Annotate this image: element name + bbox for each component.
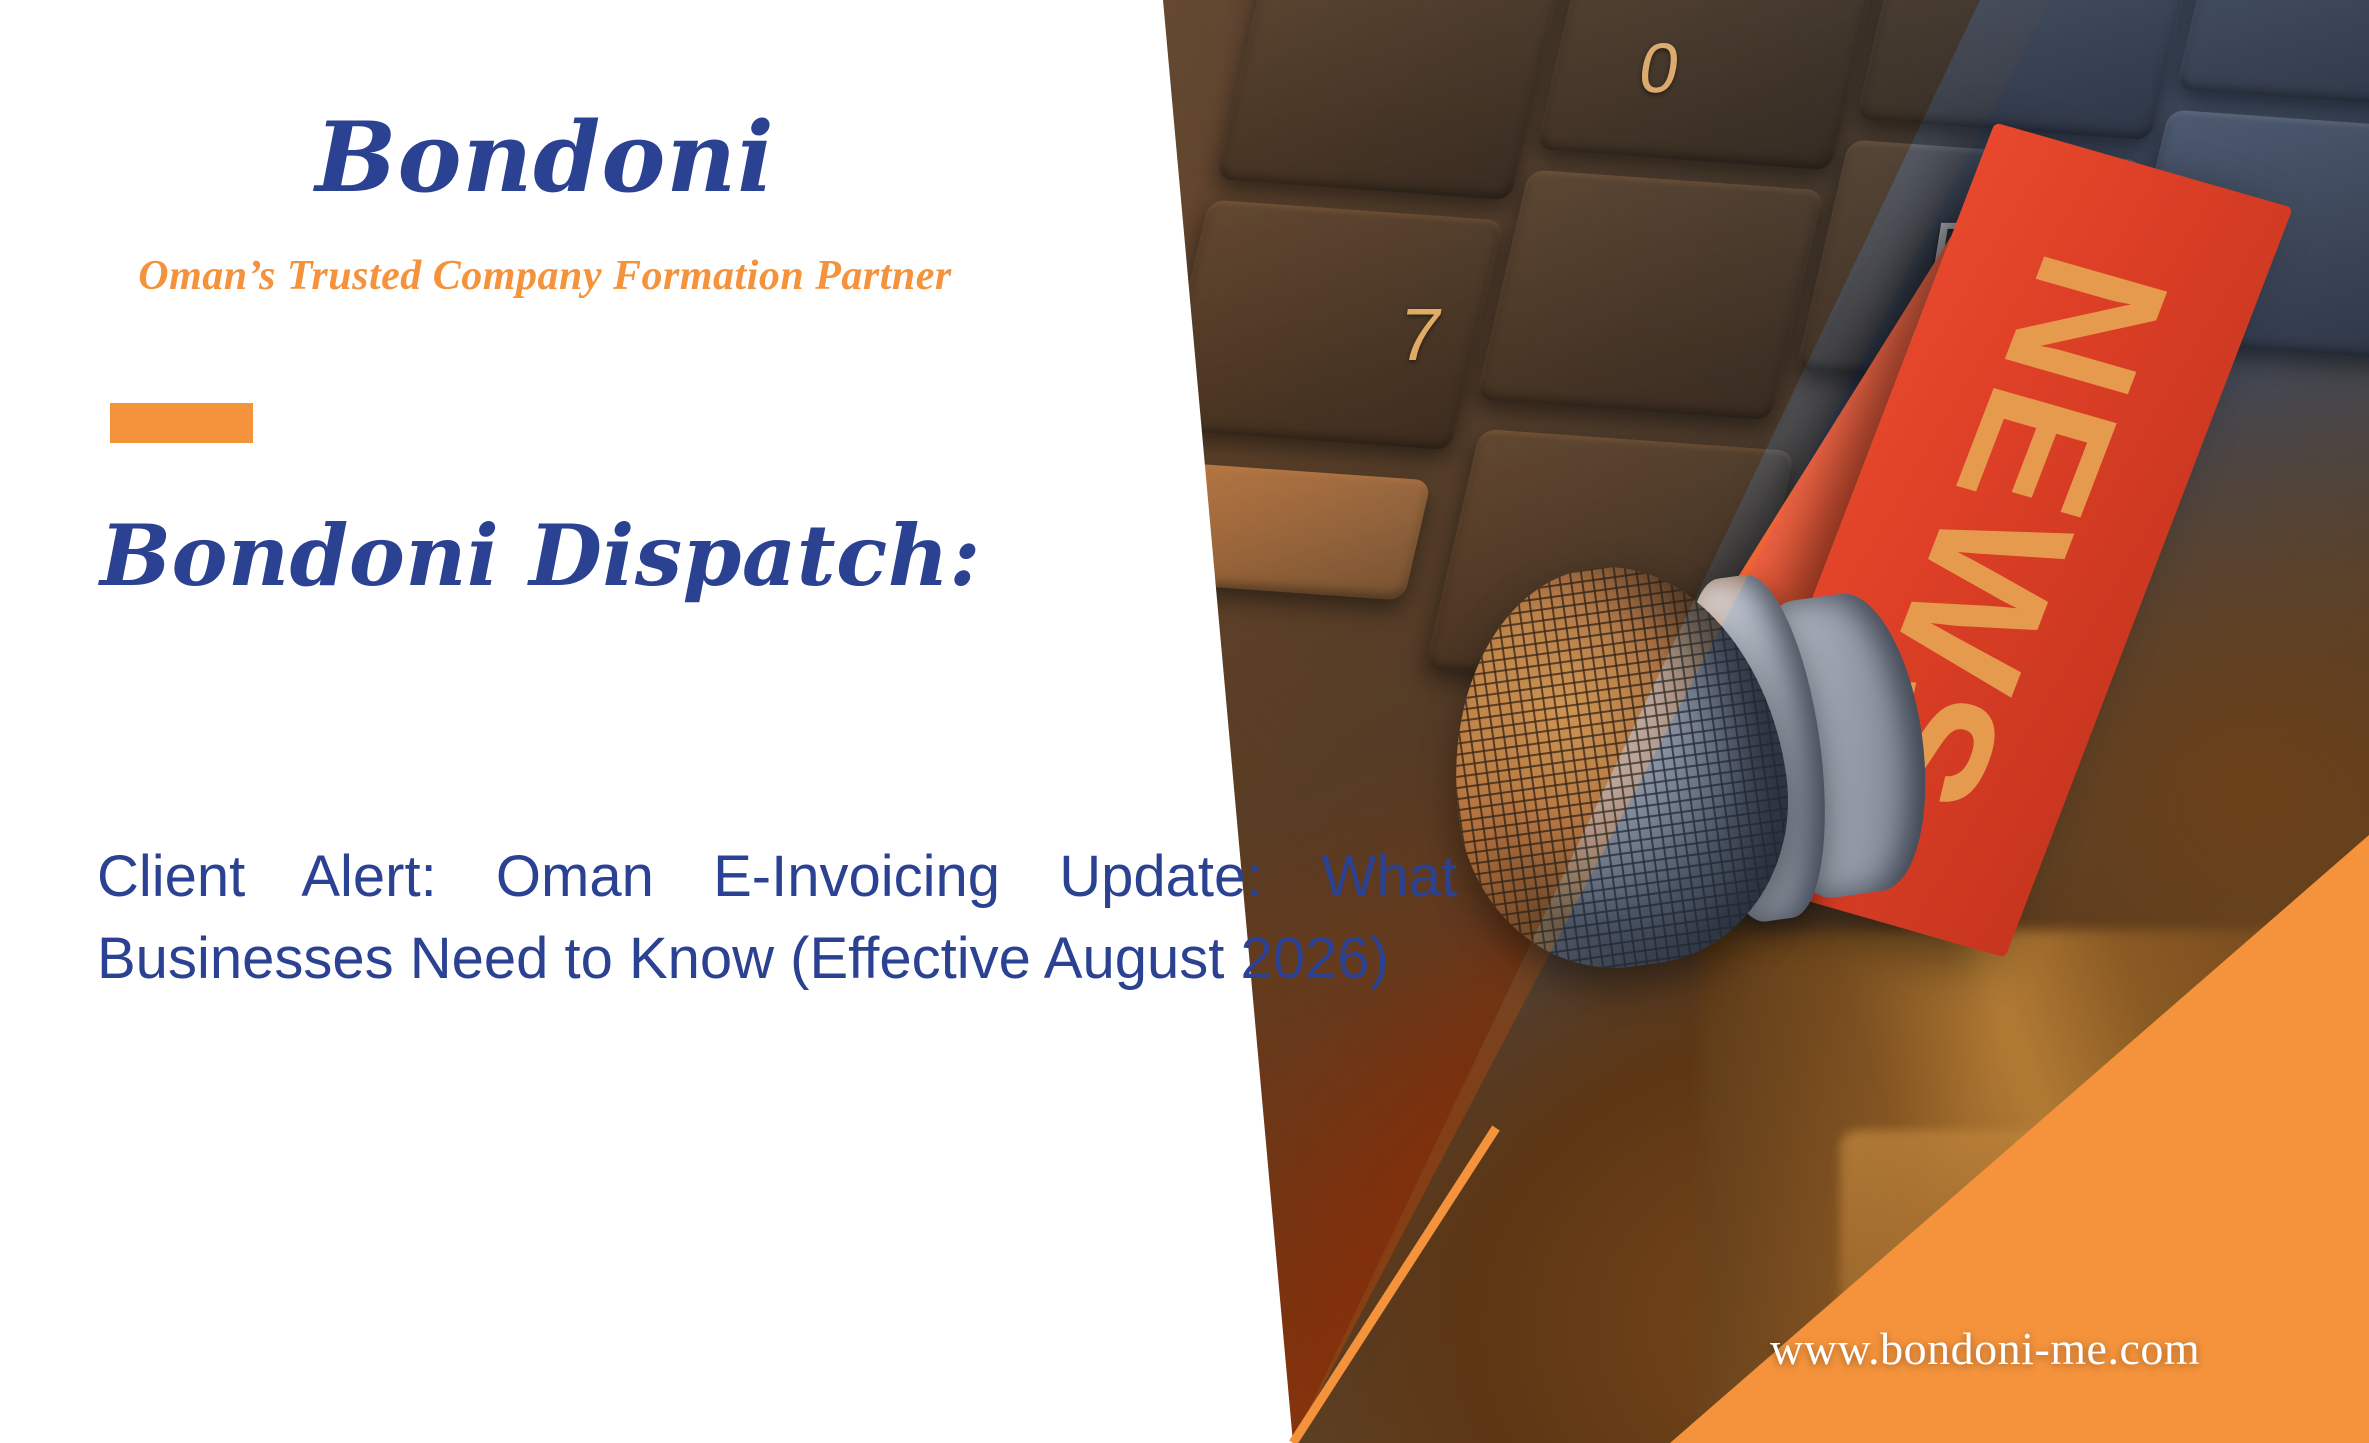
article-title-text: Client Alert: Oman E-Invoicing Update: W… [97,844,1457,991]
left-content-panel: Bondoni Oman’s Trusted Company Formation… [0,0,1163,1443]
warm-key [1840,1130,2170,1330]
warm-key [2180,1060,2369,1260]
orange-accent-bar [110,403,253,443]
article-title: Client Alert: Oman E-Invoicing Update: W… [97,836,1457,1001]
dispatch-heading: Bondoni Dispatch: [100,510,981,602]
website-url[interactable]: www.bondoni-me.com [1770,1322,2200,1375]
brand-tagline: Oman’s Trusted Company Formation Partner [0,255,1090,297]
newsletter-poster: 7 P 0 NEWS Bondoni Oman [0,0,2369,1443]
brand-name: Bondoni [0,110,1090,206]
